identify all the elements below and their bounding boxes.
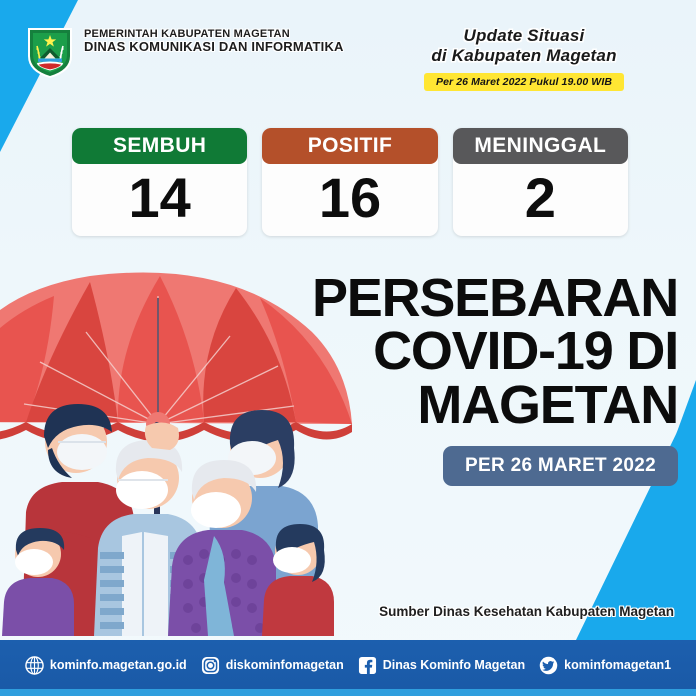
header-line-2: DINAS KOMUNIKASI DAN INFORMATIKA bbox=[84, 40, 344, 55]
header-text-block: PEMERINTAH KABUPATEN MAGETAN DINAS KOMUN… bbox=[84, 28, 344, 55]
footer-social-bar: kominfo.magetan.go.id diskominfomagetan … bbox=[0, 640, 696, 696]
main-title-block: PERSEBARAN COVID-19 DI MAGETAN PER 26 MA… bbox=[258, 272, 678, 486]
stat-value-meninggal: 2 bbox=[453, 164, 628, 236]
instagram-icon bbox=[201, 656, 220, 675]
stat-label-meninggal: MENINGGAL bbox=[453, 128, 628, 164]
facebook-icon bbox=[358, 656, 377, 675]
footer-item-twitter[interactable]: kominfomagetan1 bbox=[539, 656, 671, 675]
stat-card-meninggal: MENINGGAL 2 bbox=[453, 128, 628, 236]
main-title-line-2: COVID-19 DI bbox=[258, 325, 678, 378]
footer-bottom-strip bbox=[0, 689, 696, 696]
date-badge: PER 26 MARET 2022 bbox=[443, 446, 678, 486]
update-title-line-1: Update Situasi bbox=[374, 26, 674, 46]
footer-label-facebook: Dinas Kominfo Magetan bbox=[383, 658, 525, 672]
footer-item-facebook[interactable]: Dinas Kominfo Magetan bbox=[358, 656, 525, 675]
stat-card-positif: POSITIF 16 bbox=[262, 128, 437, 236]
stat-card-sembuh: SEMBUH 14 bbox=[72, 128, 247, 236]
globe-icon bbox=[25, 656, 44, 675]
main-title-line-3: MAGETAN bbox=[258, 379, 678, 432]
stat-label-positif: POSITIF bbox=[262, 128, 437, 164]
footer-label-instagram: diskominfomagetan bbox=[226, 658, 344, 672]
statistics-row: SEMBUH 14 POSITIF 16 MENINGGAL 2 bbox=[72, 128, 628, 236]
update-timestamp-badge: Per 26 Maret 2022 Pukul 19.00 WIB bbox=[424, 73, 624, 91]
update-status-block: Update Situasi di Kabupaten Magetan Per … bbox=[374, 26, 674, 91]
stat-label-sembuh: SEMBUH bbox=[72, 128, 247, 164]
magetan-regency-coat-of-arms-icon bbox=[24, 22, 76, 80]
source-attribution: Sumber Dinas Kesehatan Kabupaten Magetan bbox=[379, 604, 674, 619]
stat-value-sembuh: 14 bbox=[72, 164, 247, 236]
main-title-line-1: PERSEBARAN bbox=[258, 272, 678, 325]
twitter-icon bbox=[539, 656, 558, 675]
stat-value-positif: 16 bbox=[262, 164, 437, 236]
covid-infographic-poster: PEMERINTAH KABUPATEN MAGETAN DINAS KOMUN… bbox=[0, 0, 696, 696]
footer-label-website: kominfo.magetan.go.id bbox=[50, 658, 187, 672]
footer-item-website[interactable]: kominfo.magetan.go.id bbox=[25, 656, 187, 675]
footer-label-twitter: kominfomagetan1 bbox=[564, 658, 671, 672]
footer-item-instagram[interactable]: diskominfomagetan bbox=[201, 656, 344, 675]
header: PEMERINTAH KABUPATEN MAGETAN DINAS KOMUN… bbox=[0, 0, 696, 105]
update-title-line-2: di Kabupaten Magetan bbox=[374, 46, 674, 66]
